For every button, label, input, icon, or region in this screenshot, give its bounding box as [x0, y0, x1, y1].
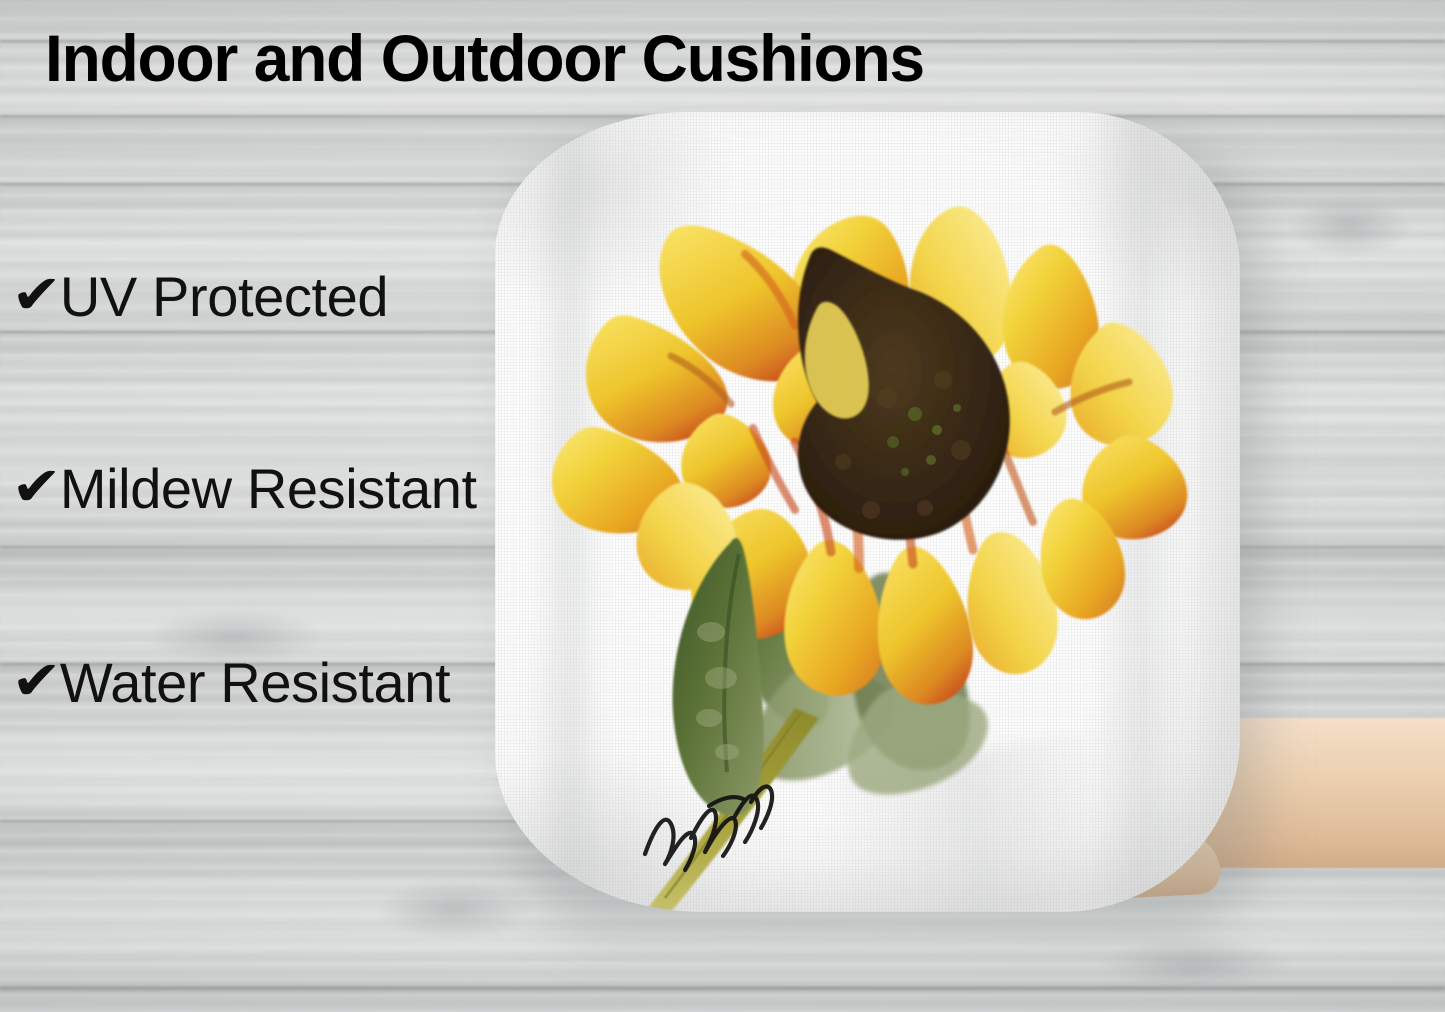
fabric-fold [1095, 112, 1185, 912]
feature-uv-protected: ✔ UV Protected [14, 264, 388, 329]
fabric-fold [535, 112, 605, 912]
sunflower-petals-outer [552, 207, 1187, 540]
page-title: Indoor and Outdoor Cushions [45, 22, 924, 96]
sunflower-artwork [495, 112, 1240, 912]
feature-label: Mildew Resistant [60, 456, 477, 521]
feature-mildew-resistant: ✔ Mildew Resistant [14, 456, 477, 521]
petal-shading-streaks [671, 254, 1129, 568]
check-icon: ✔ [11, 268, 61, 322]
sunflower-petals-lower [637, 482, 1125, 704]
feature-label: Water Resistant [60, 650, 450, 715]
check-icon: ✔ [11, 460, 61, 514]
artist-signature [645, 786, 772, 870]
check-icon: ✔ [11, 654, 61, 708]
linen-weave-texture [495, 112, 1240, 912]
flower-bracts [733, 542, 988, 794]
feature-label: UV Protected [60, 264, 388, 329]
sunflower-petals-inner [681, 328, 1066, 508]
feature-water-resistant: ✔ Water Resistant [14, 650, 450, 715]
flower-leaf-left [673, 538, 764, 816]
fabric-fold [813, 727, 1138, 912]
cushion-product[interactable] [495, 112, 1240, 912]
flower-stem [645, 708, 819, 912]
sunflower-center [798, 247, 1010, 539]
